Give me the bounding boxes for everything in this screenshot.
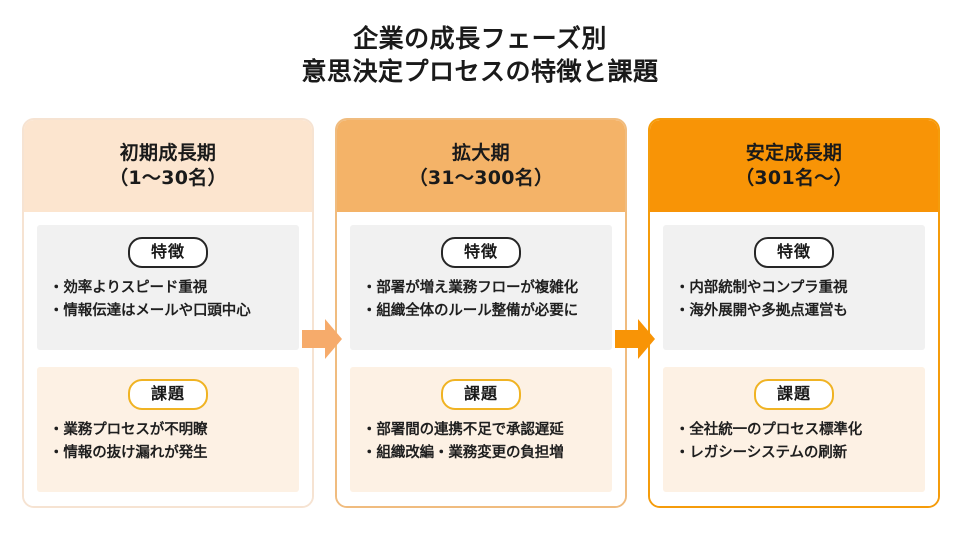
phase-name: 初期成長期 bbox=[30, 141, 306, 166]
list-item: 内部統制やコンプラ重視 bbox=[675, 277, 915, 300]
list-item: 組織全体のルール整備が必要に bbox=[362, 300, 602, 323]
phase-card-body: 特徴 内部統制やコンプラ重視 海外展開や多拠点運営も 課題 全社統一のプロセス標… bbox=[650, 212, 938, 506]
feature-badge: 特徴 bbox=[441, 237, 521, 268]
arrow-right-icon bbox=[613, 316, 657, 362]
issue-badge-wrap: 課題 bbox=[360, 379, 602, 410]
feature-badge-wrap: 特徴 bbox=[360, 237, 602, 268]
list-item: 全社統一のプロセス標準化 bbox=[675, 419, 915, 442]
feature-badge-wrap: 特徴 bbox=[47, 237, 289, 268]
phase-card-header: 安定成長期 （301名〜） bbox=[650, 120, 938, 212]
list-item: 業務プロセスが不明瞭 bbox=[49, 419, 289, 442]
page-title-line-2: 意思決定プロセスの特徴と課題 bbox=[0, 55, 960, 88]
feature-panel: 特徴 効率よりスピード重視 情報伝達はメールや口頭中心 bbox=[37, 225, 299, 350]
phase-name: 安定成長期 bbox=[656, 141, 932, 166]
list-item: 情報伝達はメールや口頭中心 bbox=[49, 300, 289, 323]
feature-badge: 特徴 bbox=[128, 237, 208, 268]
feature-list: 効率よりスピード重視 情報伝達はメールや口頭中心 bbox=[47, 277, 289, 324]
phase-name: 拡大期 bbox=[343, 141, 619, 166]
list-item: 部署が増え業務フローが複雑化 bbox=[362, 277, 602, 300]
issue-list: 業務プロセスが不明瞭 情報の抜け漏れが発生 bbox=[47, 419, 289, 466]
feature-badge: 特徴 bbox=[754, 237, 834, 268]
issue-panel: 課題 業務プロセスが不明瞭 情報の抜け漏れが発生 bbox=[37, 367, 299, 492]
phase-board: 初期成長期 （1〜30名） 特徴 効率よりスピード重視 情報伝達はメールや口頭中… bbox=[0, 118, 960, 518]
phase-card-stable-growth: 安定成長期 （301名〜） 特徴 内部統制やコンプラ重視 海外展開や多拠点運営も… bbox=[648, 118, 940, 508]
list-item: 部署間の連携不足で承認遅延 bbox=[362, 419, 602, 442]
issue-badge-wrap: 課題 bbox=[673, 379, 915, 410]
phase-headcount: （31〜300名） bbox=[343, 166, 619, 191]
page-title-line-1: 企業の成長フェーズ別 bbox=[0, 22, 960, 55]
feature-panel: 特徴 内部統制やコンプラ重視 海外展開や多拠点運営も bbox=[663, 225, 925, 350]
issue-badge: 課題 bbox=[441, 379, 521, 410]
page-title: 企業の成長フェーズ別 意思決定プロセスの特徴と課題 bbox=[0, 0, 960, 88]
feature-list: 部署が増え業務フローが複雑化 組織全体のルール整備が必要に bbox=[360, 277, 602, 324]
issue-list: 全社統一のプロセス標準化 レガシーシステムの刷新 bbox=[673, 419, 915, 466]
phase-headcount: （301名〜） bbox=[656, 166, 932, 191]
feature-list: 内部統制やコンプラ重視 海外展開や多拠点運営も bbox=[673, 277, 915, 324]
list-item: レガシーシステムの刷新 bbox=[675, 442, 915, 465]
phase-card-initial-growth: 初期成長期 （1〜30名） 特徴 効率よりスピード重視 情報伝達はメールや口頭中… bbox=[22, 118, 314, 508]
issue-badge: 課題 bbox=[128, 379, 208, 410]
issue-panel: 課題 部署間の連携不足で承認遅延 組織改編・業務変更の負担増 bbox=[350, 367, 612, 492]
feature-panel: 特徴 部署が増え業務フローが複雑化 組織全体のルール整備が必要に bbox=[350, 225, 612, 350]
phase-card-expansion: 拡大期 （31〜300名） 特徴 部署が増え業務フローが複雑化 組織全体のルール… bbox=[335, 118, 627, 508]
issue-panel: 課題 全社統一のプロセス標準化 レガシーシステムの刷新 bbox=[663, 367, 925, 492]
list-item: 情報の抜け漏れが発生 bbox=[49, 442, 289, 465]
phase-card-header: 拡大期 （31〜300名） bbox=[337, 120, 625, 212]
feature-badge-wrap: 特徴 bbox=[673, 237, 915, 268]
issue-badge-wrap: 課題 bbox=[47, 379, 289, 410]
phase-card-body: 特徴 部署が増え業務フローが複雑化 組織全体のルール整備が必要に 課題 部署間の… bbox=[337, 212, 625, 506]
list-item: 海外展開や多拠点運営も bbox=[675, 300, 915, 323]
list-item: 効率よりスピード重視 bbox=[49, 277, 289, 300]
issue-badge: 課題 bbox=[754, 379, 834, 410]
list-item: 組織改編・業務変更の負担増 bbox=[362, 442, 602, 465]
phase-headcount: （1〜30名） bbox=[30, 166, 306, 191]
issue-list: 部署間の連携不足で承認遅延 組織改編・業務変更の負担増 bbox=[360, 419, 602, 466]
phase-card-body: 特徴 効率よりスピード重視 情報伝達はメールや口頭中心 課題 業務プロセスが不明… bbox=[24, 212, 312, 506]
arrow-right-icon bbox=[300, 316, 344, 362]
phase-card-header: 初期成長期 （1〜30名） bbox=[24, 120, 312, 212]
